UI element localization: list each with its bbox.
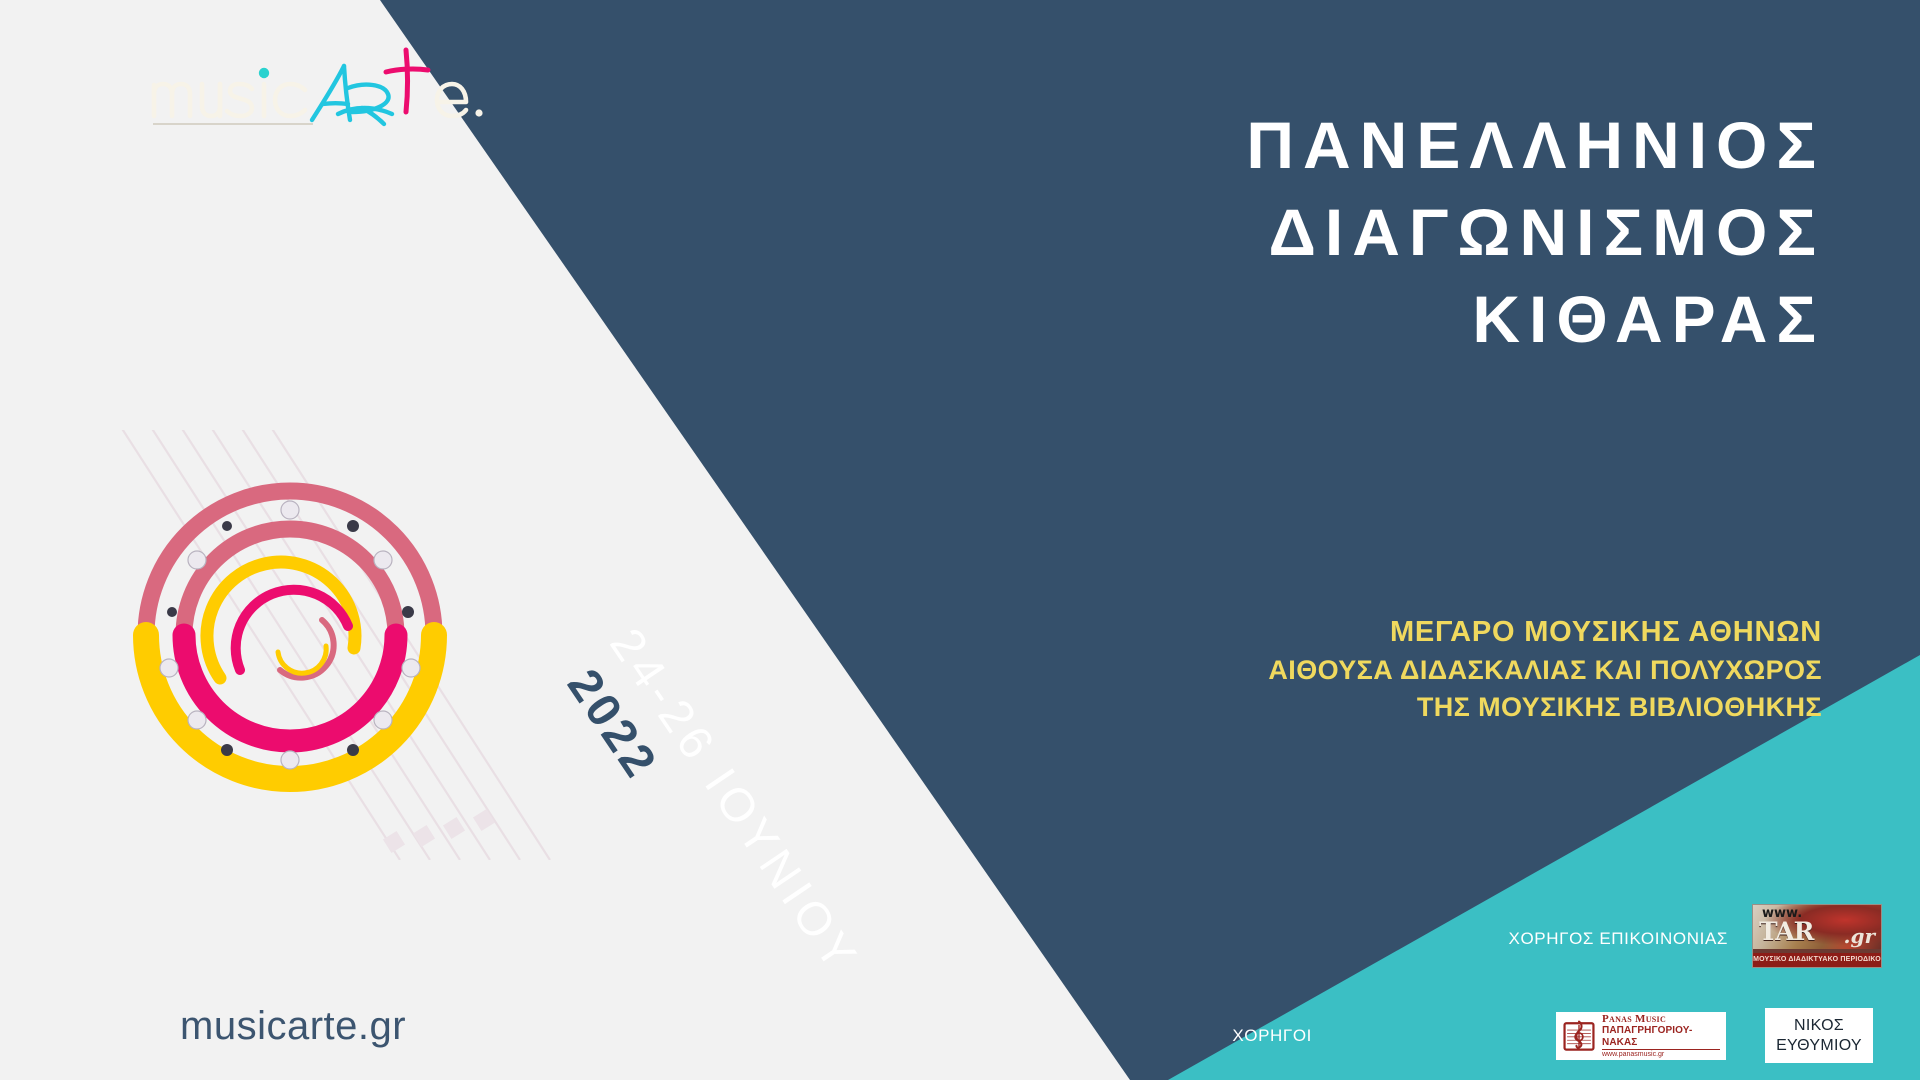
sponsors-label: ΧΟΡΗΓΟΙ [1232,1026,1312,1046]
logo-period-dot [475,109,482,116]
panas-book-clef-icon [1562,1019,1596,1053]
nikos-line-1: ΝΙΚΟΣ [1794,1016,1844,1036]
panas-divider [1602,1049,1720,1050]
sponsor-logo-panas[interactable]: Panas Music ΠΑΠΑΓΡΗΓΟΡΙΟΥ-ΝΑΚΑΣ www.pana… [1556,1012,1726,1060]
string-end-blocks [383,809,495,853]
panas-name: Panas Music [1602,1013,1720,1025]
rosette-svg [100,430,570,860]
venue-line-3: ΤΗΣ ΜΟΥΣΙΚΗΣ ΒΙΒΛΙΟΘΗΚΗΣ [902,689,1822,726]
title-line-1: ΠΑΝΕΛΛΗΝΙΟΣ [865,102,1825,189]
tar-tagline: ΜΟΥΣΙΚΟ ΔΙΑΔΙΚΤΥΑΚΟ ΠΕΡΙΟΔΙΚΟ [1753,953,1881,967]
media-sponsor-label: ΧΟΡΗΓΟΣ ΕΠΙΚΟΙΝΟΝΙΑΣ [1509,929,1728,949]
venue-line-1: ΜΕΓΑΡΟ ΜΟΥΣΙΚΗΣ ΑΘΗΝΩΝ [902,612,1822,652]
tar-name-text: TAR [1759,917,1813,946]
panas-text-block: Panas Music ΠΑΠΑΓΡΗΓΟΡΙΟΥ-ΝΑΚΑΣ www.pana… [1602,1013,1720,1059]
logo-letter-e [437,84,466,116]
panas-url: www.panasmusic.gr [1602,1051,1720,1059]
sponsor-logo-tar[interactable]: www. TAR .gr ΜΟΥΣΙΚΟ ΔΙΑΔΙΚΤΥΑΚΟ ΠΕΡΙΟΔΙ… [1752,904,1882,968]
rosette-dots [160,501,420,769]
poster-canvas: ΠΑΝΕΛΛΗΝΙΟΣ ΔΙΑΓΩΝΙΣΜΟΣ ΚΙΘΑΡΑΣ ΜΕΓΑΡΟ Μ… [0,0,1920,1080]
tar-tld-text: .gr [1844,924,1875,948]
venue-block: ΜΕΓΑΡΟ ΜΟΥΣΙΚΗΣ ΑΘΗΝΩΝ ΑΙΘΟΥΣΑ ΔΙΔΑΣΚΑΛΙ… [902,612,1822,727]
logo-letter-t [386,50,428,112]
musicarte-logo-mark [148,42,488,128]
nikos-line-2: ΕΥΘΥΜΙΟΥ [1776,1036,1862,1056]
guitar-rosette-graphic [100,430,570,860]
panas-greek-name: ΠΑΠΑΓΡΗΓΟΡΙΟΥ-ΝΑΚΑΣ [1602,1025,1720,1048]
sponsor-logo-nikos-efthimiou[interactable]: ΝΙΚΟΣ ΕΥΘΥΜΙΟΥ [1765,1008,1873,1063]
logo-music-letters [154,84,305,116]
musicarte-logo[interactable] [148,42,488,128]
venue-line-2: ΑΙΘΟΥΣΑ ΔΙΔΑΣΚΑΛΙΑΣ ΚΑΙ ΠΟΛΥΧΩΡΟΣ [902,652,1822,689]
page-title: ΠΑΝΕΛΛΗΝΙΟΣ ΔΙΑΓΩΝΙΣΜΟΣ ΚΙΘΑΡΑΣ [865,102,1825,363]
title-line-3: ΚΙΘΑΡΑΣ [865,276,1825,363]
title-line-2: ΔΙΑΓΩΝΙΣΜΟΣ [865,189,1825,276]
website-url[interactable]: musicarte.gr [180,1004,406,1049]
logo-i-dot [259,68,269,78]
